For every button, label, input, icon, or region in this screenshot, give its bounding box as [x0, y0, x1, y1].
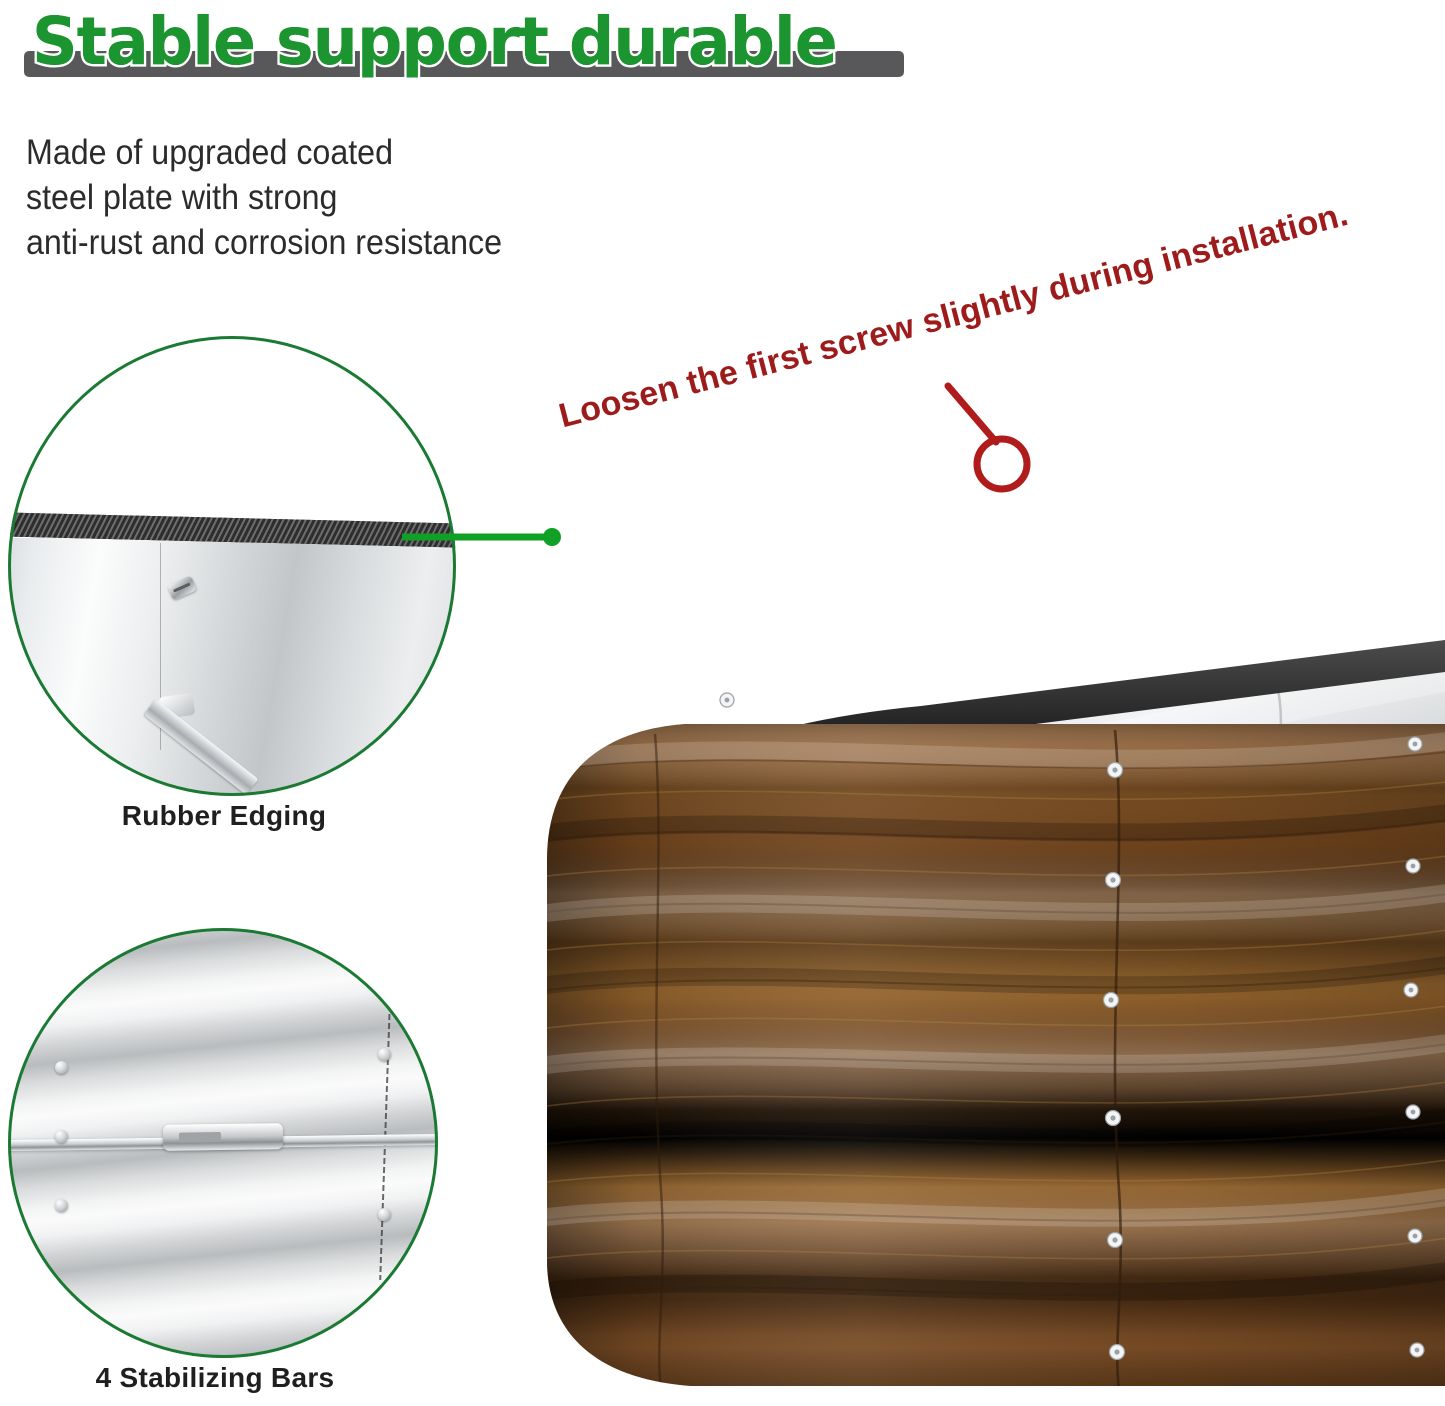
callout-1-image — [8, 336, 456, 796]
exterior-screw-icon — [1408, 737, 1422, 751]
exterior-screw-icon — [1104, 993, 1119, 1008]
exterior-screw-icon — [1404, 983, 1418, 997]
exterior-screw-icon — [1106, 873, 1121, 888]
exterior-screw-icon — [1108, 763, 1123, 778]
steel-panel-graphic — [8, 538, 456, 796]
callout-1-background — [8, 336, 456, 525]
exterior-screw-icon — [1106, 1111, 1121, 1126]
infographic-canvas: Stable support durable Stable support du… — [0, 0, 1445, 1406]
callout-1-label: Rubber Edging — [0, 800, 448, 832]
subtitle-text: Made of upgraded coated steel plate with… — [26, 130, 780, 265]
exterior-screw-icon — [720, 693, 734, 707]
page-title-text: Stable support durable — [32, 4, 896, 80]
exterior-screw-icon — [1408, 1229, 1422, 1243]
callout-rubber-edging — [8, 336, 456, 796]
exterior-screw-icon — [1108, 1233, 1123, 1248]
callout-2-image — [8, 928, 438, 1358]
turnbuckle-icon — [163, 1123, 283, 1151]
product-image-raised-garden-bed — [455, 300, 1445, 1406]
exterior-screw-icon — [1406, 1105, 1420, 1119]
exterior-screw-icon — [1406, 859, 1420, 873]
exterior-screw-icon — [1410, 1343, 1424, 1357]
callout-stabilizing-bars — [8, 928, 438, 1358]
rivet-icon — [378, 1208, 391, 1221]
page-title: Stable support durable Stable support du… — [14, 4, 914, 90]
callout-2-label: 4 Stabilizing Bars — [0, 1362, 430, 1394]
exterior-screw-icon — [1110, 1345, 1125, 1360]
